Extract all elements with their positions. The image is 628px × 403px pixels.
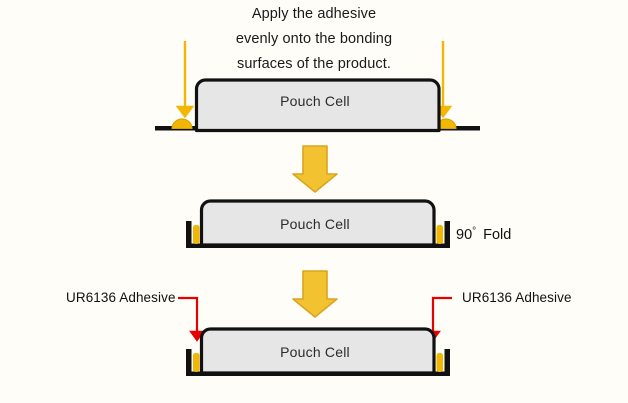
- adhesive-strip-right-3: [437, 353, 444, 372]
- pouch-cell-label-2: Pouch Cell: [195, 216, 435, 232]
- instruction-line-3: surfaces of the product.: [154, 56, 474, 72]
- fold-annotation: 90°Fold: [456, 226, 511, 243]
- adhesive-application-diagram: Apply the adhesive evenly onto the bondi…: [0, 0, 628, 403]
- flange-leg-left-2: [186, 221, 192, 245]
- adhesive-callout-label-right: UR6136 Adhesive: [462, 290, 572, 305]
- instruction-line-2: evenly onto the bonding: [154, 31, 474, 47]
- flange-leg-left-3: [186, 349, 192, 373]
- flange-leg-right-2: [445, 221, 451, 245]
- adhesive-strip-right-2: [437, 225, 444, 244]
- instruction-line-1: Apply the adhesive: [154, 6, 474, 22]
- pouch-cell-label-3: Pouch Cell: [195, 344, 435, 360]
- process-arrow-1-icon: [293, 146, 337, 192]
- pouch-cell-label-1: Pouch Cell: [195, 93, 435, 109]
- degree-symbol: °: [472, 226, 476, 237]
- adhesive-dome-left: [172, 119, 192, 129]
- flange-leg-right-3: [445, 349, 451, 373]
- adhesive-callout-label-left: UR6136 Adhesive: [66, 290, 176, 305]
- process-arrow-2-icon: [293, 271, 337, 317]
- callout-leader-right: [433, 298, 452, 336]
- callout-leader-left: [178, 298, 197, 336]
- fold-angle-value: 90: [456, 227, 472, 243]
- fold-action-label: Fold: [483, 227, 511, 243]
- stage-1-group: [155, 41, 480, 131]
